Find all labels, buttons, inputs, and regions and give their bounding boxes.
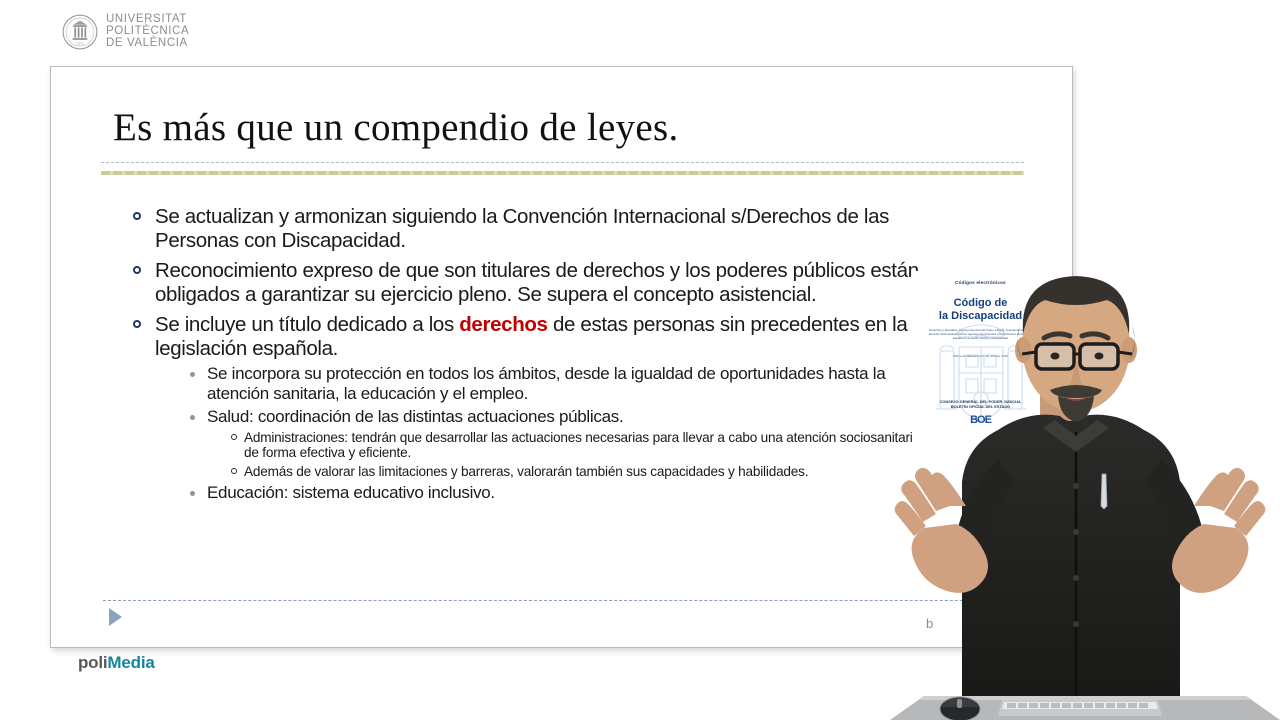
bullet-highlight-derechos: derechos bbox=[459, 313, 547, 336]
upv-seal-icon: UPV bbox=[62, 14, 98, 50]
bullet-circle-icon bbox=[133, 320, 141, 328]
list-item: Salud: coordinación de las distintas act… bbox=[185, 407, 929, 479]
list-item: Administraciones: tendrán que desarrolla… bbox=[229, 430, 929, 461]
upv-logo: UPV UNIVERSITAT POLITÈCNICA DE VALÈNCIA bbox=[62, 14, 189, 50]
title-dashed-rule bbox=[101, 162, 1024, 163]
mouse-icon bbox=[940, 697, 980, 720]
polimedia-logo: poliMedia bbox=[78, 653, 155, 673]
upv-wordmark: UNIVERSITAT POLITÈCNICA DE VALÈNCIA bbox=[106, 14, 189, 49]
keyboard-icon bbox=[998, 700, 1162, 716]
desk-surface bbox=[890, 676, 1280, 720]
bullet-text: Educación: sistema educativo inclusivo. bbox=[207, 483, 495, 502]
upv-line-3: DE VALÈNCIA bbox=[106, 38, 189, 50]
bullet-text-before: Se incluye un título dedicado a los bbox=[155, 313, 459, 336]
svg-text:UPV: UPV bbox=[76, 42, 84, 46]
bullet-circle-small-icon bbox=[231, 434, 237, 440]
bullet-dot-icon bbox=[190, 372, 195, 377]
list-item: Se actualizan y armonizan siguiendo la C… bbox=[129, 205, 929, 252]
list-item: Se incluye un título dedicado a los dere… bbox=[129, 313, 929, 503]
bullet-text: Reconocimiento expreso de que son titula… bbox=[155, 259, 919, 306]
bullet-text: Salud: coordinación de las distintas act… bbox=[207, 407, 623, 426]
bullet-dot-icon bbox=[190, 415, 195, 420]
bullet-list-level3: Administraciones: tendrán que desarrolla… bbox=[229, 430, 929, 480]
list-item: Educación: sistema educativo inclusivo. bbox=[185, 483, 929, 503]
list-item: Además de valorar las limitaciones y bar… bbox=[229, 464, 929, 480]
bullet-circle-small-icon bbox=[231, 468, 237, 474]
list-item: Se incorpora su protección en todos los … bbox=[185, 364, 929, 403]
bullet-text: Se incorpora su protección en todos los … bbox=[207, 364, 885, 403]
bullet-list-level2: Se incorpora su protección en todos los … bbox=[185, 364, 929, 503]
bullet-circle-icon bbox=[133, 266, 141, 274]
slide-body: Se actualizan y armonizan siguiendo la C… bbox=[129, 205, 929, 510]
bullet-circle-icon bbox=[133, 212, 141, 220]
title-olive-rule bbox=[101, 171, 1024, 175]
bullet-list-level1: Se actualizan y armonizan siguiendo la C… bbox=[129, 205, 929, 503]
bullet-text: Administraciones: tendrán que desarrolla… bbox=[244, 430, 924, 461]
play-triangle-icon[interactable] bbox=[109, 608, 122, 626]
list-item: Reconocimiento expreso de que son titula… bbox=[129, 259, 929, 306]
presenter-video bbox=[880, 260, 1280, 720]
polimedia-poli: poli bbox=[78, 653, 107, 672]
bullet-text: Además de valorar las limitaciones y bar… bbox=[244, 464, 808, 479]
bullet-dot-icon bbox=[190, 491, 195, 496]
bullet-text: Se actualizan y armonizan siguiendo la C… bbox=[155, 205, 889, 252]
slide-title: Es más que un compendio de leyes. bbox=[113, 105, 679, 150]
polimedia-media: Media bbox=[107, 653, 154, 672]
